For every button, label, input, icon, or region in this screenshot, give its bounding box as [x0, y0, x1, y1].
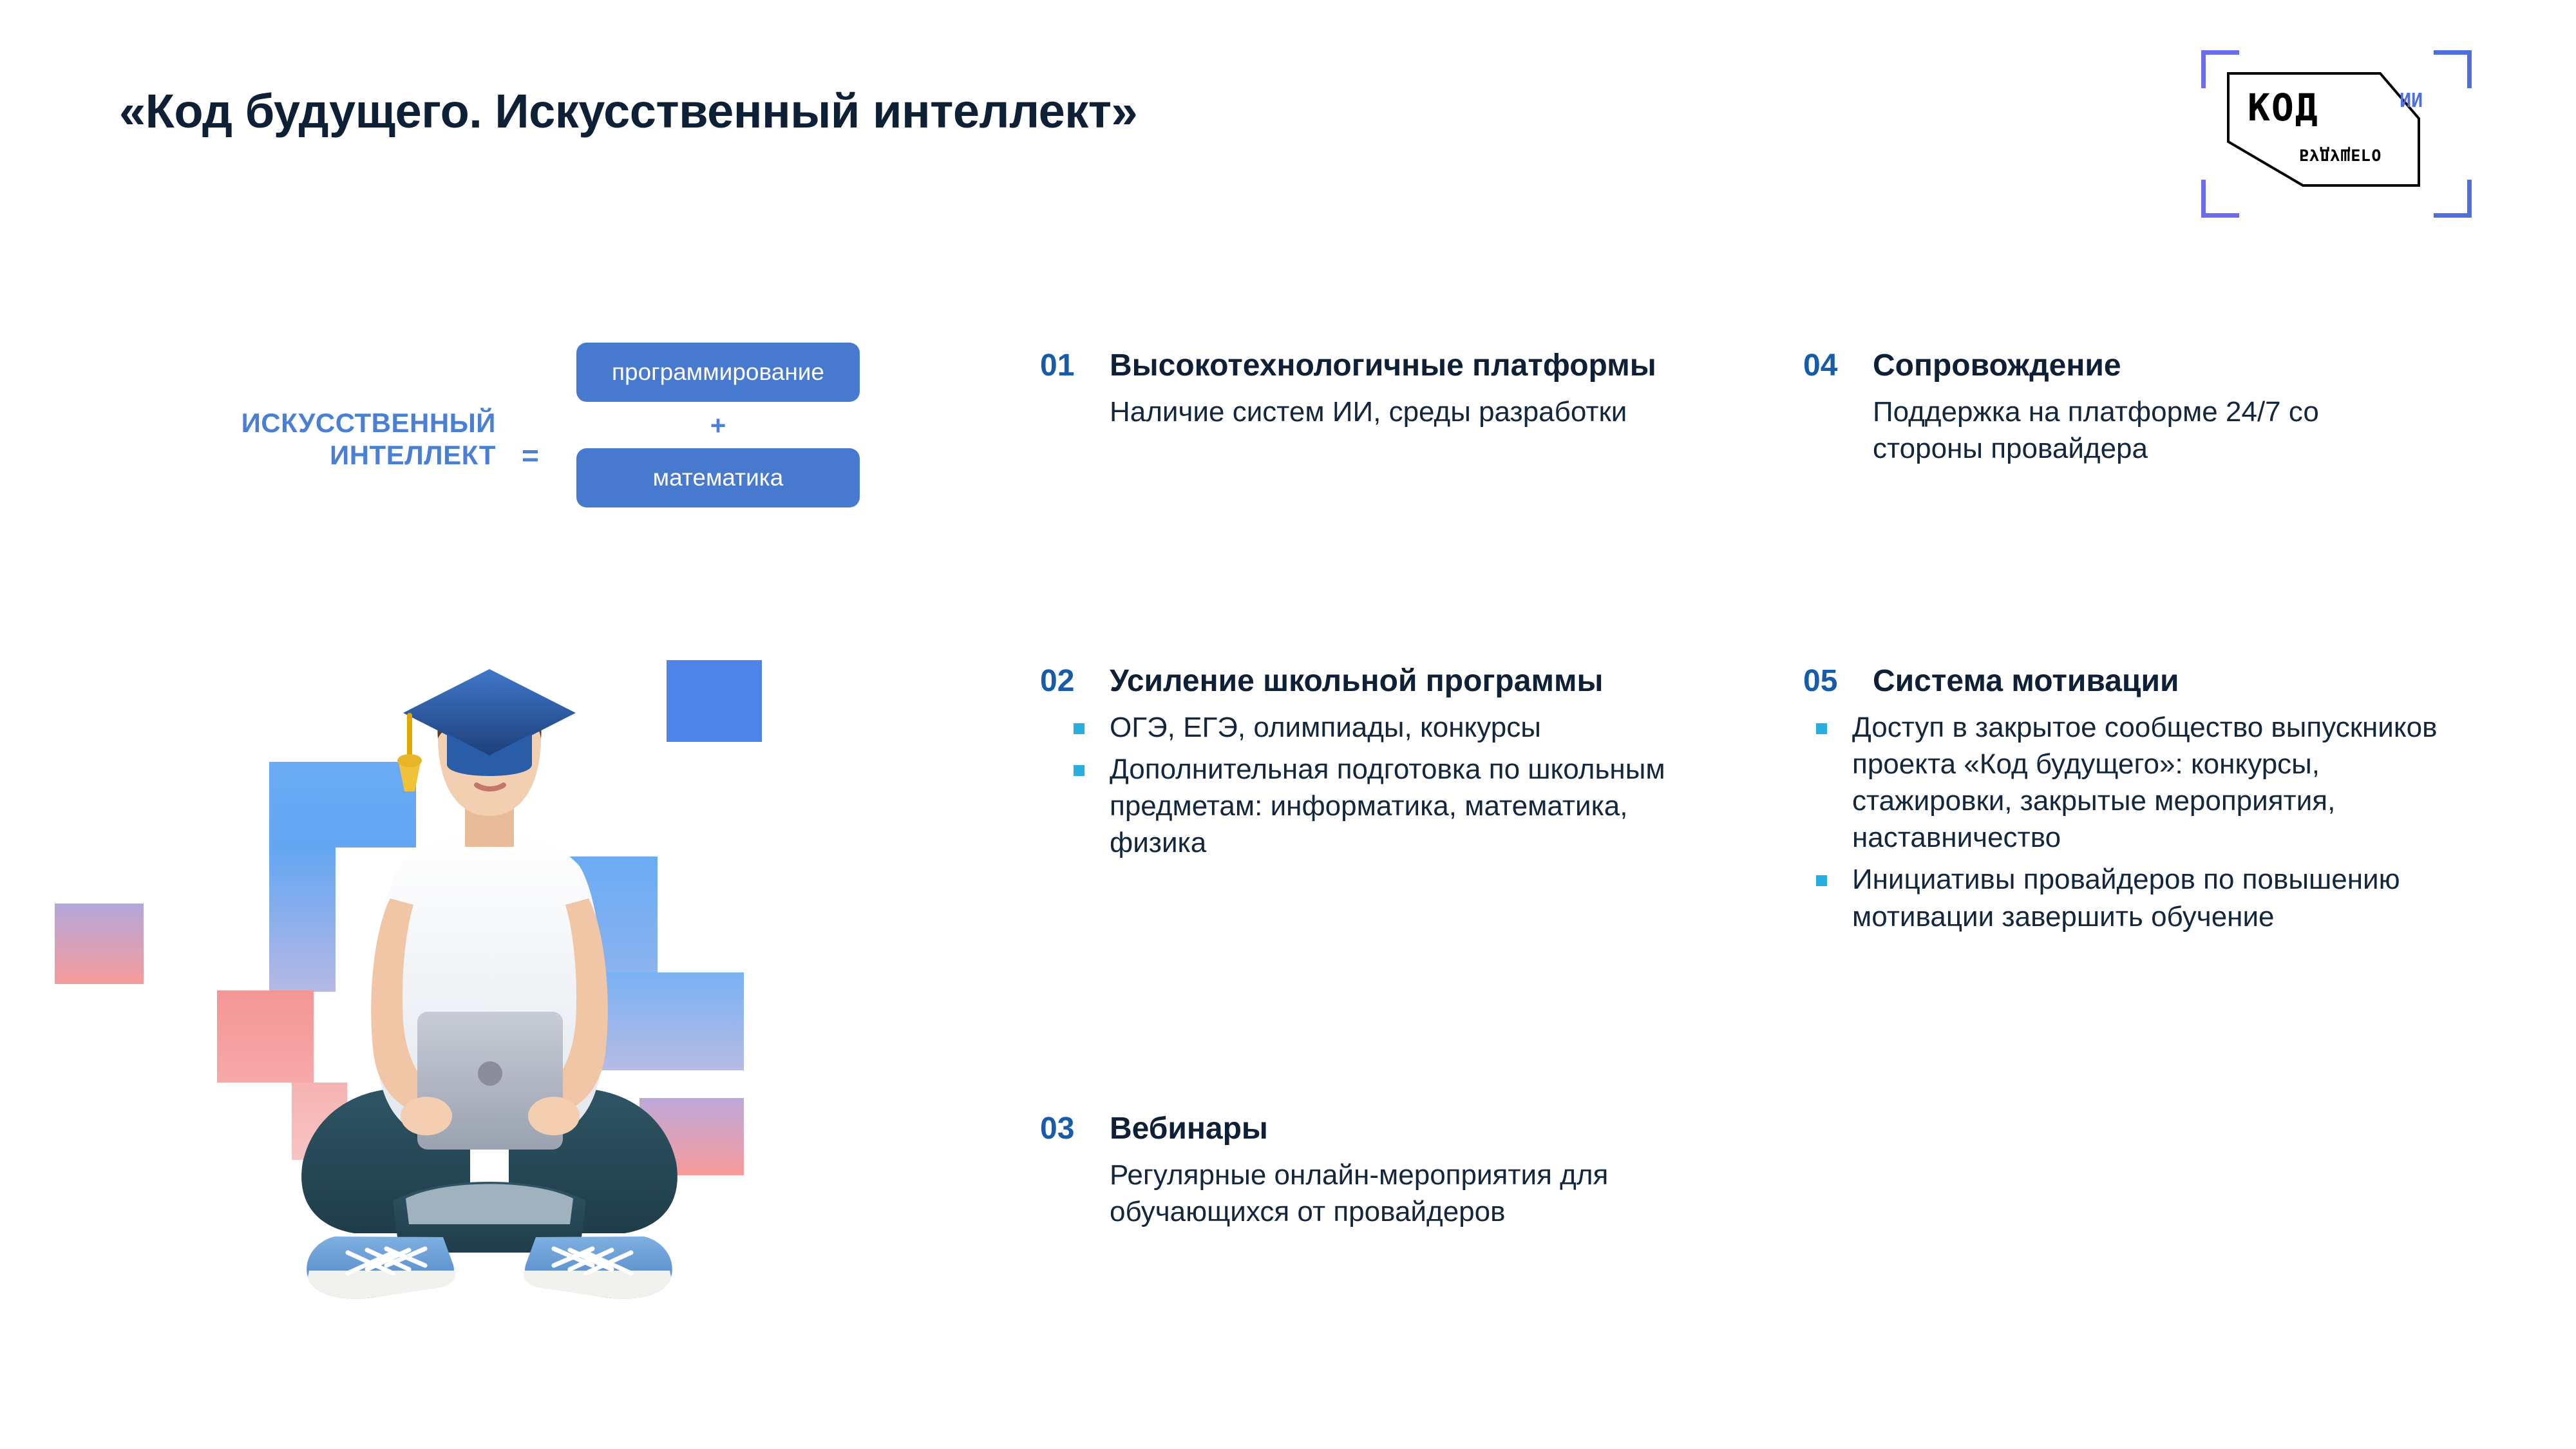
list-item: ОГЭ, ЕГЭ, олимпиады, конкурсы	[1040, 709, 1684, 746]
feature-item-05: 05 Система мотивации Доступ в закрытое с…	[1803, 663, 2447, 940]
logo-word-budushchego: БУДУЩЕГО	[2299, 147, 2382, 163]
feature-item-01: 01 Высокотехнологичные платформы Наличие…	[1040, 348, 1761, 430]
equation-equals-sign: =	[522, 438, 539, 473]
feature-bullets-05: Доступ в закрытое сообщество выпускников…	[1803, 709, 2447, 935]
deco-square-pink-left	[55, 904, 144, 984]
equation-label-ai: ИСКУССТВЕННЫЙ ИНТЕЛЛЕКТ	[135, 407, 496, 471]
list-item: Доступ в закрытое сообщество выпускников…	[1803, 709, 2447, 857]
equation-plus-sign: +	[576, 402, 860, 448]
logo-word-kod: КОД	[2248, 89, 2319, 126]
brand-logo: КОД БУДУЩЕГО ИИ	[2201, 50, 2472, 218]
feature-title-05: Система мотивации	[1873, 663, 2447, 700]
list-item: Инициативы провайдеров по повышению моти…	[1803, 861, 2447, 934]
bullet-square-icon	[1816, 875, 1827, 886]
feature-item-03: 03 Вебинары Регулярные онлайн-мероприяти…	[1040, 1111, 1723, 1230]
feature-body-04: Поддержка на платформе 24/7 со стороны п…	[1873, 393, 2383, 467]
equation-box-mathematics: математика	[576, 448, 860, 507]
logo-bracket-bottom-right-icon	[2434, 180, 2472, 218]
feature-title-01: Высокотехнологичные платформы	[1110, 348, 1761, 384]
feature-title-02: Усиление школьной программы	[1110, 663, 1684, 700]
ai-equation-diagram: ИСКУССТВЕННЫЙ ИНТЕЛЛЕКТ = программирован…	[116, 335, 876, 547]
logo-badge-ii: ИИ	[2400, 88, 2423, 110]
feature-bullets-02: ОГЭ, ЕГЭ, олимпиады, конкурсы Дополнител…	[1040, 709, 1684, 862]
bullet-text: Инициативы провайдеров по повышению моти…	[1852, 864, 2400, 932]
bullet-text: ОГЭ, ЕГЭ, олимпиады, конкурсы	[1110, 712, 1541, 743]
feature-item-02: 02 Усиление школьной программы ОГЭ, ЕГЭ,…	[1040, 663, 1684, 866]
bullet-text: Дополнительная подготовка по школьным пр…	[1110, 753, 1665, 858]
page-title: «Код будущего. Искусственный интеллект»	[119, 84, 1137, 138]
feature-number-01: 01	[1040, 348, 1110, 384]
logo-bracket-top-right-icon	[2434, 50, 2472, 88]
feature-number-05: 05	[1803, 663, 1873, 700]
feature-item-04: 04 Сопровождение Поддержка на платформе …	[1803, 348, 2383, 467]
student-figure-illustration	[277, 654, 702, 1349]
bullet-square-icon	[1816, 723, 1827, 734]
bullet-square-icon	[1074, 765, 1084, 776]
bullet-square-icon	[1074, 723, 1084, 734]
equation-box-programming: программирование	[576, 343, 860, 402]
bullet-text: Доступ в закрытое сообщество выпускников…	[1852, 712, 2437, 854]
feature-number-03: 03	[1040, 1111, 1110, 1148]
feature-title-03: Вебинары	[1110, 1111, 1723, 1148]
student-illustration	[55, 634, 837, 1349]
feature-number-02: 02	[1040, 663, 1110, 700]
list-item: Дополнительная подготовка по школьным пр…	[1040, 751, 1684, 862]
feature-title-04: Сопровождение	[1873, 348, 2383, 384]
feature-body-01: Наличие систем ИИ, среды разработки	[1110, 393, 1761, 430]
feature-number-04: 04	[1803, 348, 1873, 384]
feature-body-03: Регулярные онлайн-мероприятия для обучаю…	[1110, 1157, 1723, 1230]
